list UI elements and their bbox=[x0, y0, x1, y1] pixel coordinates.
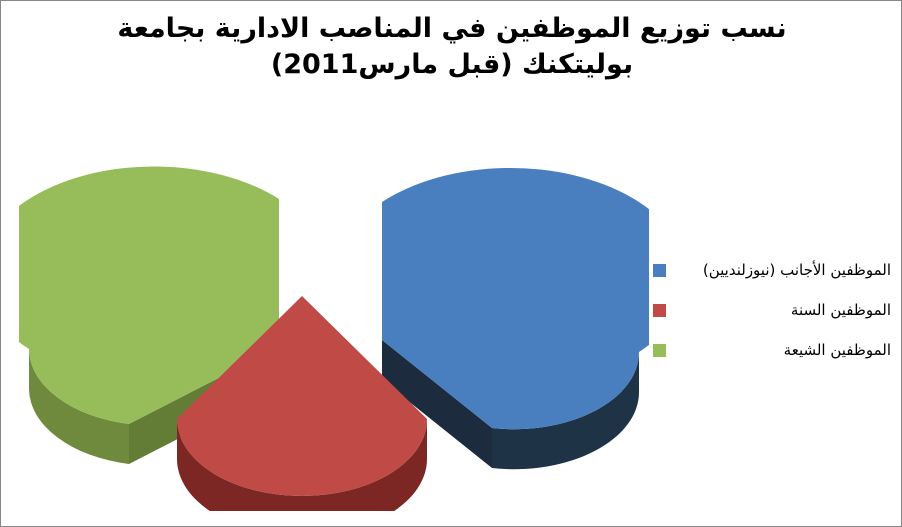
pie-chart-svg bbox=[19, 136, 649, 511]
legend-item-shia-staff[interactable]: الموظفين الشيعة bbox=[653, 337, 897, 363]
pie-chart-plot-area bbox=[19, 136, 649, 511]
legend-label-foreign-staff: الموظفين الأجانب (نيوزلنديين) bbox=[674, 261, 897, 279]
chart-legend: الموظفين الأجانب (نيوزلنديين) الموظفين ا… bbox=[653, 257, 897, 377]
legend-item-foreign-staff[interactable]: الموظفين الأجانب (نيوزلنديين) bbox=[653, 257, 897, 283]
legend-swatch-blue-icon bbox=[653, 264, 666, 277]
legend-label-shia-staff: الموظفين الشيعة bbox=[674, 341, 897, 359]
legend-swatch-red-icon bbox=[653, 304, 666, 317]
legend-item-sunni-staff[interactable]: الموظفين السنة bbox=[653, 297, 897, 323]
chart-title-line-1: نسب توزيع الموظفين في المناصب الادارية ب… bbox=[61, 11, 843, 47]
legend-swatch-green-icon bbox=[653, 344, 666, 357]
legend-label-sunni-staff: الموظفين السنة bbox=[674, 301, 897, 319]
chart-page: نسب توزيع الموظفين في المناصب الادارية ب… bbox=[0, 0, 902, 527]
chart-title-line-2: بوليتكنك (قبل مارس2011) bbox=[61, 47, 843, 83]
page-title: نسب توزيع الموظفين في المناصب الادارية ب… bbox=[1, 11, 902, 84]
